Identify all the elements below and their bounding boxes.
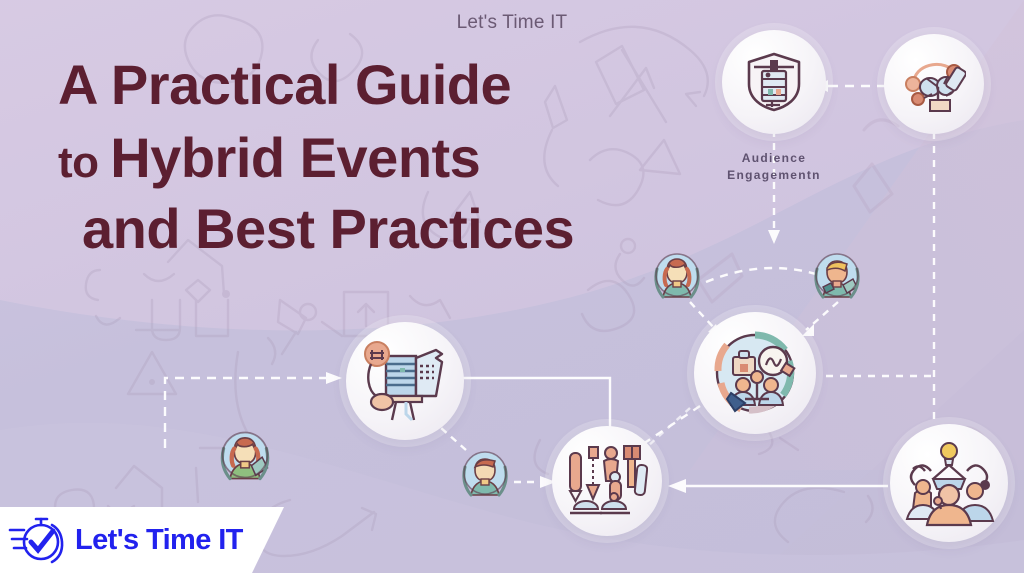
avatar-female-icon (649, 247, 705, 303)
poster-canvas: Let's Time IT A Practical Guide to Hybri… (0, 0, 1024, 573)
stopwatch-check-icon (8, 515, 66, 565)
avatar-female-icon (215, 425, 275, 485)
headline-line-3: and Best Practices (58, 200, 678, 257)
headline-line-2-main: Hybrid Events (110, 126, 480, 189)
headline-line-2: to Hybrid Events (58, 129, 678, 186)
node-label-line-1: Audience (742, 151, 806, 165)
brand-logo-text: Let's Time IT (75, 524, 243, 557)
avatar-male-icon (457, 445, 513, 501)
node-label-line-2: Engagementn (727, 168, 821, 182)
node-label-audience-engagement: Audience Engagementn (694, 150, 854, 185)
headline-line-1: A Practical Guide (58, 56, 678, 113)
avatar-speaker-center[interactable] (456, 444, 514, 502)
page-title: A Practical Guide to Hybrid Events and B… (58, 56, 678, 257)
shield-document-icon (744, 51, 804, 113)
avatar-attendee-right[interactable] (808, 246, 866, 304)
event-equipment-icon (566, 441, 648, 521)
global-meeting-icon (709, 327, 801, 419)
presentation-board-icon (362, 338, 448, 424)
node-global-meeting[interactable] (694, 312, 816, 434)
avatar-presenter-left[interactable] (214, 424, 276, 486)
page-kicker: Let's Time IT (0, 12, 1024, 34)
network-nodes-icon (902, 54, 966, 114)
avatar-male-icon (809, 247, 865, 303)
avatar-attendee-left[interactable] (648, 246, 706, 304)
node-team-collaboration[interactable] (890, 424, 1008, 542)
brand-logo[interactable]: Let's Time IT (0, 507, 301, 573)
team-collaboration-icon (903, 439, 995, 527)
node-audience-engagement[interactable] (722, 30, 826, 134)
node-network-strategy[interactable] (884, 34, 984, 134)
headline-line-2-prefix: to (58, 138, 110, 187)
node-event-equipment[interactable] (552, 426, 662, 536)
node-presentation-board[interactable] (346, 322, 464, 440)
